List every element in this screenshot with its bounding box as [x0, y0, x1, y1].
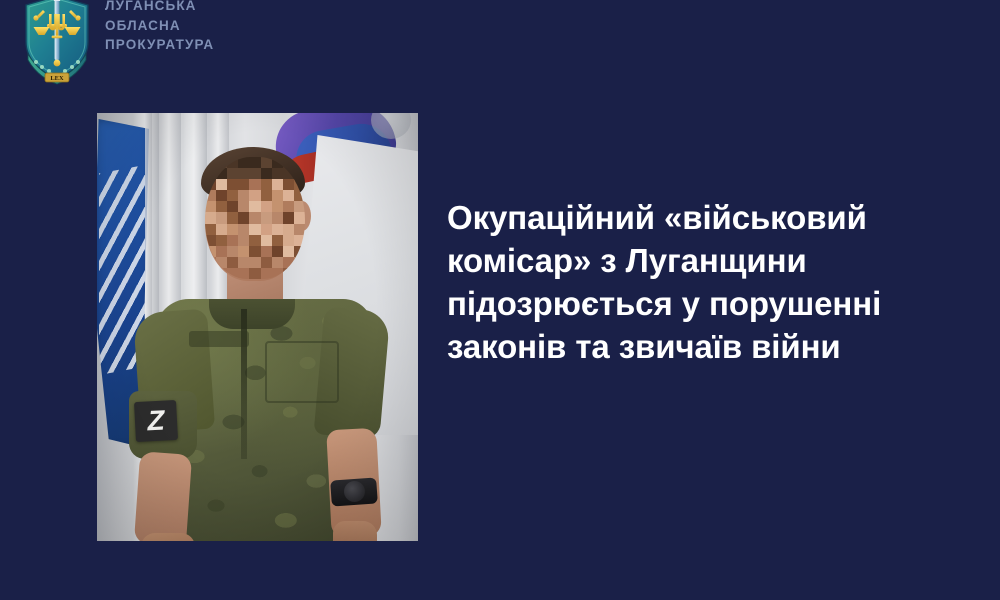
headline: Окупаційний «військовий комісар» з Луган…	[447, 196, 917, 368]
headline-line-3: підозрюється у порушенні	[447, 282, 917, 325]
subject-right-hand	[333, 521, 377, 541]
photo-subject: Z	[97, 113, 418, 541]
headline-line-1: Окупаційний «військовий	[447, 196, 917, 239]
photo-scene: Z	[97, 113, 418, 541]
brand-line-2: ОБЛАСНА	[105, 16, 214, 36]
uniform-collar	[209, 299, 295, 329]
z-sleeve-patch: Z	[134, 400, 178, 442]
headline-line-2: комісар» з Луганщини	[447, 239, 917, 282]
brand-line-1: ЛУГАНСЬКА	[105, 0, 214, 16]
uniform-pocket-flap	[189, 331, 249, 347]
z-patch-label: Z	[147, 407, 166, 436]
suspect-photo: Z	[97, 113, 418, 541]
pixelated-face-mask	[205, 157, 305, 279]
subject-left-hand	[141, 533, 195, 541]
emblem-motto-text: LEX	[50, 75, 64, 82]
subject-left-forearm	[134, 451, 192, 541]
news-poster: LEX ЛУГАНСЬКА ОБЛАСНА ПРОКУРАТУРА	[0, 0, 1000, 600]
brand-line-3: ПРОКУРАТУРА	[105, 35, 214, 55]
brand-lockup: LEX ЛУГАНСЬКА ОБЛАСНА ПРОКУРАТУРА	[18, 0, 214, 86]
brand-name: ЛУГАНСЬКА ОБЛАСНА ПРОКУРАТУРА	[105, 0, 214, 55]
face-pixel-block	[294, 268, 305, 279]
luhansk-prosecutors-office-emblem: LEX	[18, 0, 96, 86]
headline-line-4: законів та звичаїв війни	[447, 325, 917, 368]
uniform-chest-pocket	[265, 341, 339, 403]
